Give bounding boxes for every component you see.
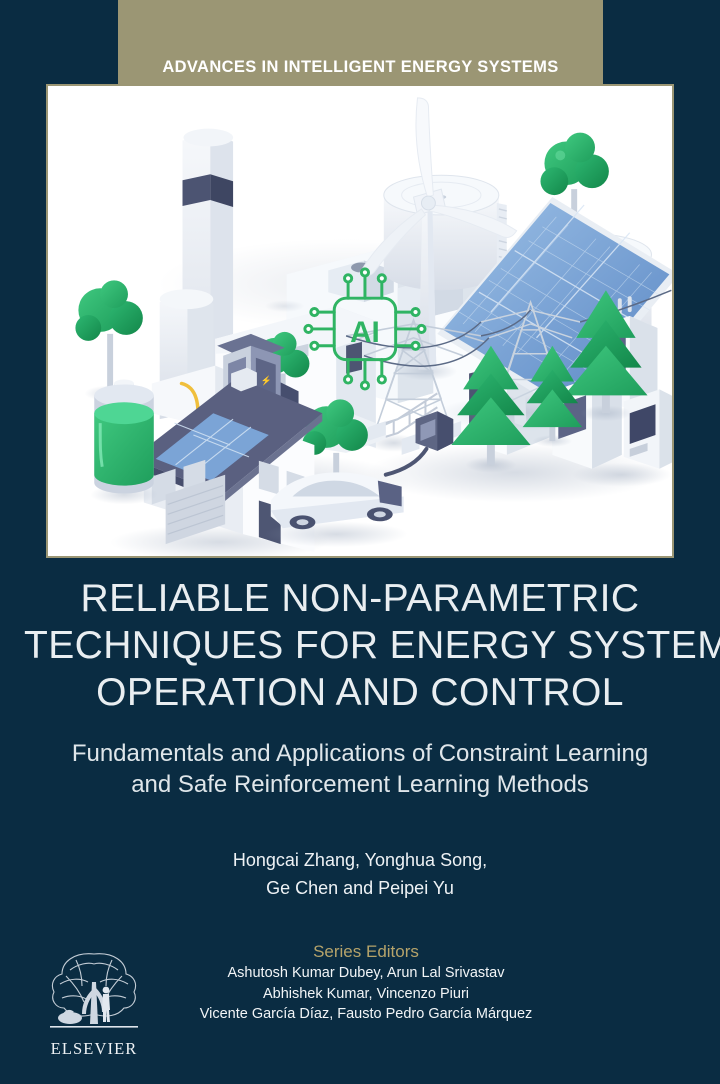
ai-chip-label: AI: [350, 316, 380, 349]
title-line-1: RELIABLE NON-PARAMETRIC: [24, 575, 696, 622]
series-banner: ADVANCES IN INTELLIGENT ENERGY SYSTEMS: [118, 0, 603, 86]
tree-deciduous-solar: [265, 300, 305, 312]
series-editors-line-2: Abhishek Kumar, Vincenzo Piuri: [140, 984, 592, 1005]
publisher-name: ELSEVIER: [40, 1039, 148, 1059]
book-cover: ADVANCES IN INTELLIGENT ENERGY SYSTEMS: [0, 0, 720, 1084]
energy-system-illustration: ⚡: [48, 86, 672, 556]
green-battery-cylinder: [90, 380, 157, 505]
title-line-2: TECHNIQUES FOR ENERGY SYSTEM: [24, 622, 696, 669]
title-line-3: OPERATION AND CONTROL: [24, 669, 696, 716]
series-editors-line-1: Ashutosh Kumar Dubey, Arun Lal Srivastav: [140, 963, 592, 984]
series-editors-block: Series Editors Ashutosh Kumar Dubey, Aru…: [140, 940, 592, 1025]
authors-line-2: Ge Chen and Peipei Yu: [40, 874, 680, 902]
series-banner-label: ADVANCES IN INTELLIGENT ENERGY SYSTEMS: [162, 58, 558, 77]
subtitle-line-1: Fundamentals and Applications of Constra…: [40, 738, 680, 769]
publisher-logo: ELSEVIER: [40, 938, 148, 1063]
cover-illustration-panel: ⚡: [46, 84, 674, 558]
series-editors-label: Series Editors: [140, 940, 592, 963]
series-editors-line-3: Vicente García Díaz, Fausto Pedro García…: [140, 1004, 592, 1025]
svg-text:⚡: ⚡: [261, 374, 272, 386]
non-solus-tree-icon: [40, 938, 148, 1042]
authors-line-1: Hongcai Zhang, Yonghua Song,: [40, 846, 680, 874]
book-authors: Hongcai Zhang, Yonghua Song, Ge Chen and…: [40, 846, 680, 902]
subtitle-line-2: and Safe Reinforcement Learning Methods: [40, 769, 680, 800]
book-subtitle: Fundamentals and Applications of Constra…: [40, 738, 680, 800]
book-title: RELIABLE NON-PARAMETRIC TECHNIQUES FOR E…: [24, 575, 696, 716]
